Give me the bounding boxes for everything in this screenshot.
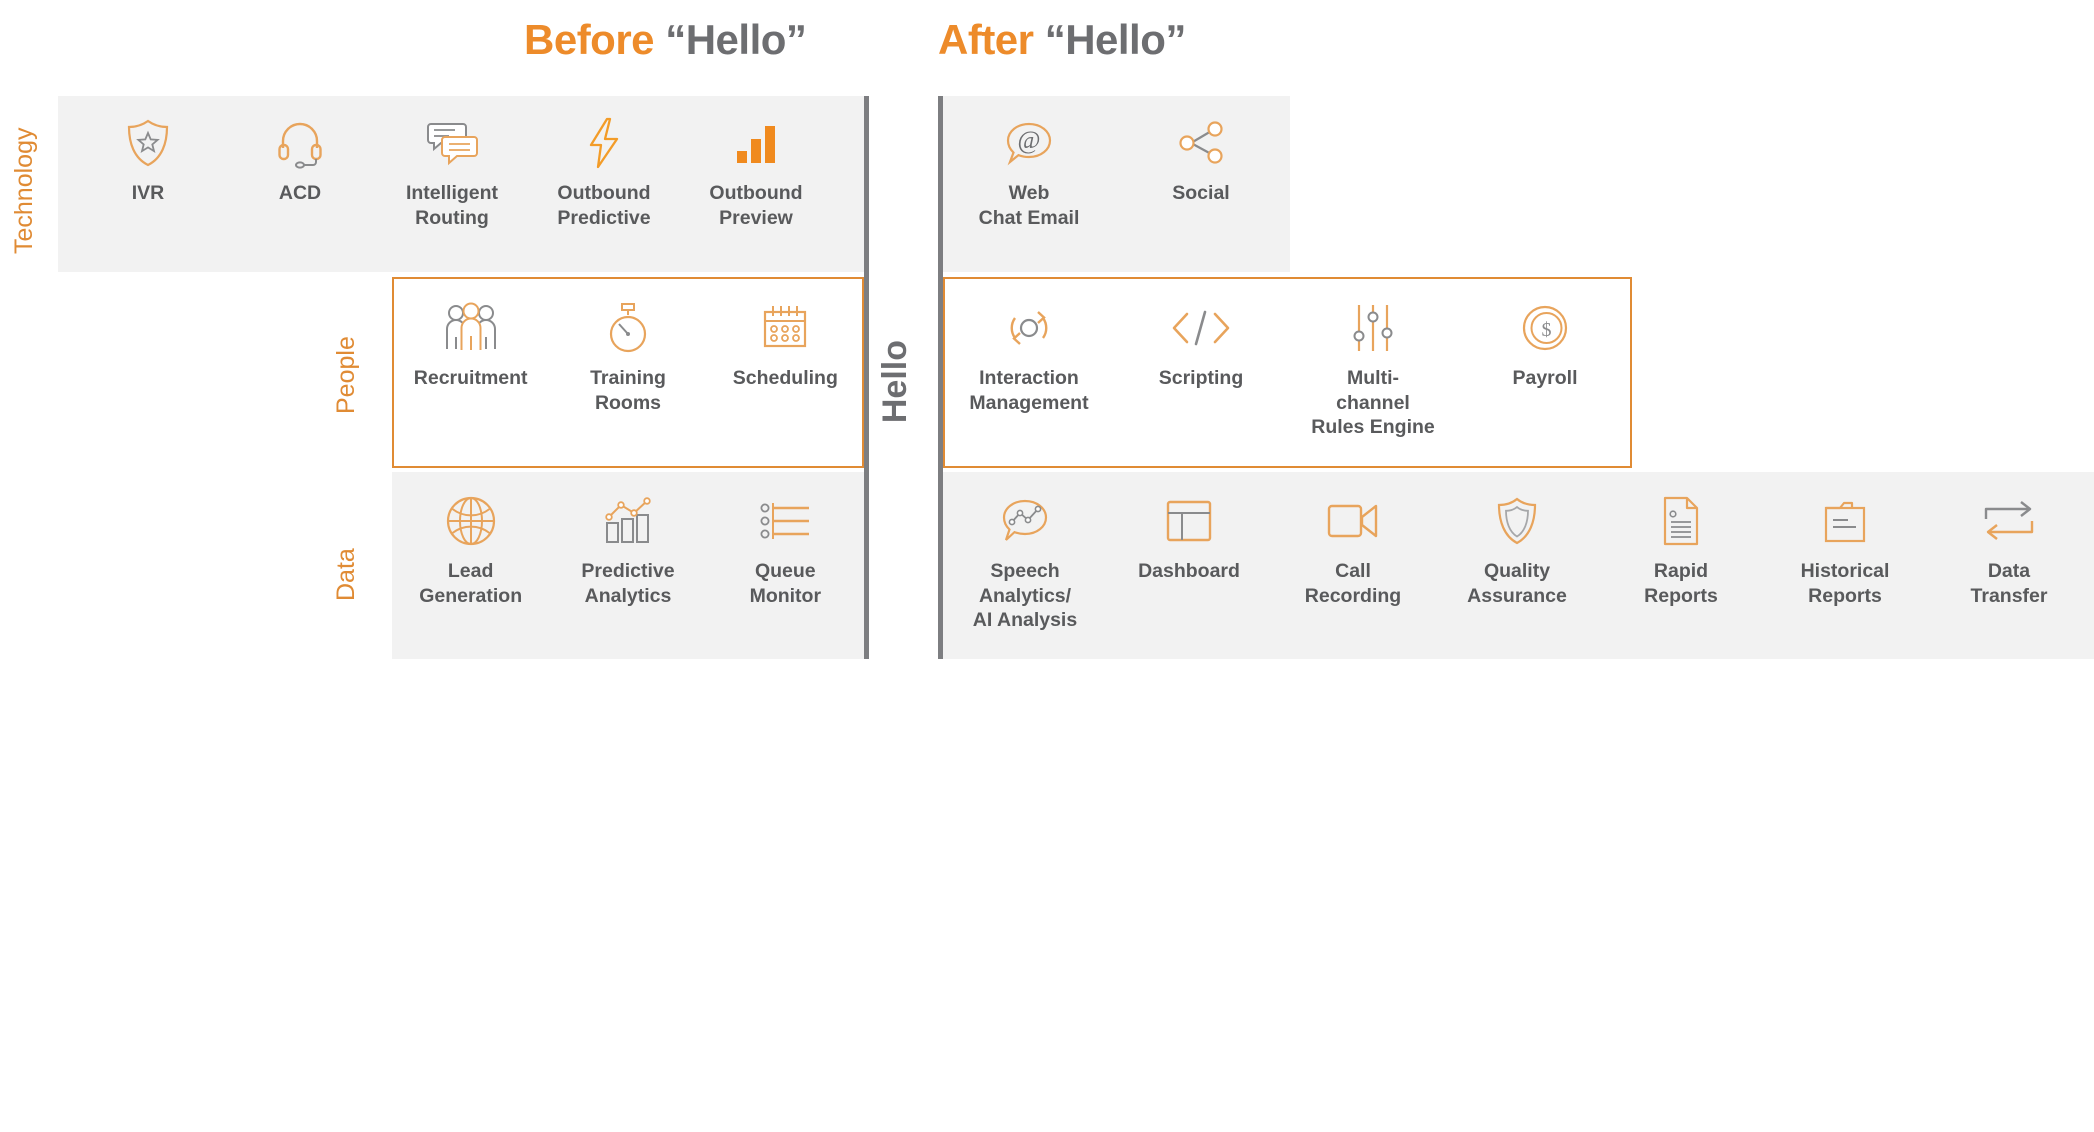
calendar-icon [761,299,809,357]
item-label: Speech Analytics/ AI Analysis [973,559,1077,633]
refresh-cycle-icon [1005,299,1053,357]
item-label: Multi- channel Rules Engine [1311,366,1435,440]
speech-analytics-icon [999,492,1051,550]
code-brackets-icon [1171,299,1231,357]
item-lead-generation[interactable]: Lead Generation [392,492,549,608]
heading-before-quoted: “Hello” [665,16,806,63]
item-historical-reports[interactable]: Historical Reports [1763,492,1927,608]
item-acd[interactable]: ACD [224,114,376,206]
share-nodes-icon [1176,114,1226,172]
item-ivr[interactable]: IVR [72,114,224,206]
folder-document-icon [1822,492,1868,550]
item-label: Payroll [1512,366,1577,391]
axis-label-technology: Technology [10,96,39,286]
item-label: Lead Generation [419,559,522,608]
item-multi-channel-rules-engine[interactable]: Multi- channel Rules Engine [1287,299,1459,440]
item-label: Scripting [1159,366,1244,391]
heading-after-quoted: “Hello” [1045,16,1186,63]
item-dashboard[interactable]: Dashboard [1107,492,1271,584]
item-outbound-preview[interactable]: Outbound Preview [680,114,832,230]
item-recruitment[interactable]: Recruitment [392,299,549,391]
divider-bar-left [864,96,869,659]
item-interaction-management[interactable]: Interaction Management [943,299,1115,415]
bar-chart-icon [734,114,778,172]
item-predictive-analytics[interactable]: Predictive Analytics [549,492,706,608]
item-web-chat-email[interactable]: @ Web Chat Email [943,114,1115,230]
item-group-data-after: Speech Analytics/ AI Analysis Dashboard … [943,472,2094,1132]
heading-before-accent: Before [524,16,654,63]
item-label: Training Rooms [590,366,666,415]
item-label: Scheduling [733,366,838,391]
item-data-transfer[interactable]: Data Transfer [1927,492,2091,608]
item-label: Call Recording [1305,559,1401,608]
item-training-rooms[interactable]: Training Rooms [549,299,706,415]
shield-icon [1496,492,1538,550]
svg-text:@: @ [1017,127,1040,154]
heading-after-hello: After “Hello” [938,16,1186,64]
item-label: Interaction Management [969,366,1088,415]
item-social[interactable]: Social [1115,114,1287,206]
item-quality-assurance[interactable]: Quality Assurance [1435,492,1599,608]
chat-bubbles-icon [425,114,479,172]
globe-icon [445,492,497,550]
item-label: Data Transfer [1971,559,2048,608]
document-lines-icon [1661,492,1701,550]
item-label: Dashboard [1138,559,1240,584]
item-scripting[interactable]: Scripting [1115,299,1287,391]
item-scheduling[interactable]: Scheduling [707,299,864,391]
queue-list-icon [759,492,811,550]
item-label: Rapid Reports [1644,559,1718,608]
at-speech-bubble-icon: @ [1004,114,1054,172]
item-label: Intelligent Routing [406,181,498,230]
stopwatch-icon [606,299,650,357]
heading-before-hello: Before “Hello” [524,16,806,64]
heading-after-accent: After [938,16,1034,63]
svg-text:$: $ [1542,319,1552,341]
dashboard-layout-icon [1165,492,1213,550]
item-label: Outbound Preview [709,181,802,230]
sliders-icon [1351,299,1395,357]
headset-icon [276,114,324,172]
item-label: Outbound Predictive [557,181,650,230]
item-label: Historical Reports [1801,559,1890,608]
item-payroll[interactable]: $ Payroll [1459,299,1631,391]
shield-star-icon [125,114,171,172]
people-group-icon [443,299,499,357]
transfer-arrows-icon [1980,492,2038,550]
item-label: IVR [132,181,165,206]
item-group-data-before: Lead Generation Predictive Analytics [392,472,864,1132]
item-outbound-predictive[interactable]: Outbound Predictive [528,114,680,230]
video-camera-icon [1326,492,1380,550]
chart-trend-icon [601,492,655,550]
item-label: Queue Monitor [750,559,821,608]
lightning-bolt-icon [586,114,622,172]
item-label: Web Chat Email [979,181,1080,230]
item-queue-monitor[interactable]: Queue Monitor [707,492,864,608]
item-speech-analytics-ai-analysis[interactable]: Speech Analytics/ AI Analysis [943,492,1107,633]
item-label: Quality Assurance [1467,559,1567,608]
infographic-canvas: Before “Hello” After “Hello” Technology … [0,0,2094,660]
item-label: ACD [279,181,321,206]
item-label: Recruitment [414,366,528,391]
center-label-hello: Hello [876,340,915,423]
item-call-recording[interactable]: Call Recording [1271,492,1435,608]
item-label: Social [1172,181,1229,206]
item-rapid-reports[interactable]: Rapid Reports [1599,492,1763,608]
item-intelligent-routing[interactable]: Intelligent Routing [376,114,528,230]
dollar-coin-icon: $ [1521,299,1569,357]
item-label: Predictive Analytics [581,559,674,608]
